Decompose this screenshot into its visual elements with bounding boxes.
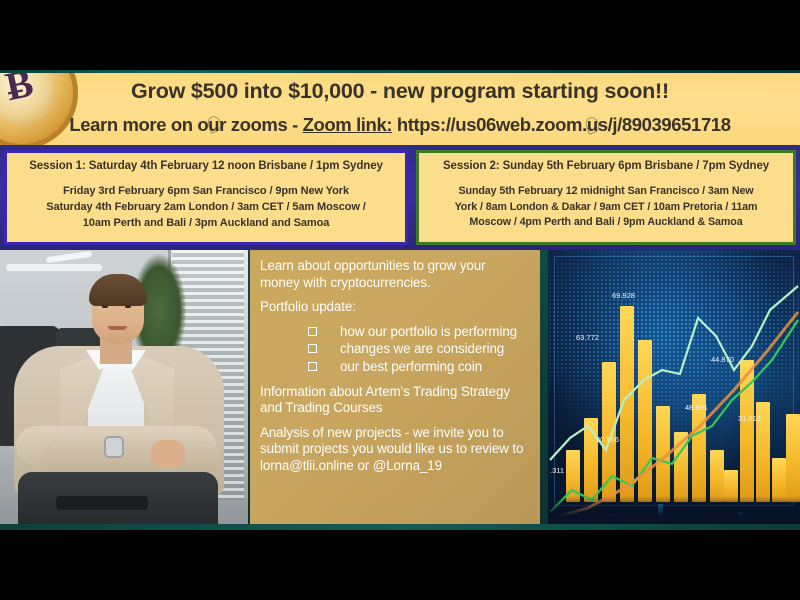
agenda-analysis: Analysis of new projects - we invite you… xyxy=(260,425,528,475)
market-chart-image: 69.928 63.772 48.891 44.870 31.012 20.55… xyxy=(548,250,800,530)
chart-trend-lines xyxy=(548,250,800,530)
chart-data-label: 44.870 xyxy=(711,355,734,364)
chart-data-label: 63.772 xyxy=(576,333,599,342)
chart-data-label-partial: .311 xyxy=(550,466,564,475)
session-1-time-line: Friday 3rd February 6pm San Francisco / … xyxy=(46,184,366,200)
chart-data-label: 48.891 xyxy=(685,403,708,412)
chart-trend-line-orange xyxy=(554,312,798,518)
agenda-panel: Learn about opportunities to grow your m… xyxy=(250,250,540,525)
photo-ceiling-light-1 xyxy=(6,264,102,271)
promo-banner: Ƀ Grow $500 into $10,000 - new program s… xyxy=(0,73,800,145)
banner-subtitle-prefix: Learn more on our zooms - xyxy=(69,114,302,135)
agenda-bullet-item: how our portfolio is performing xyxy=(260,324,528,341)
session-2-time-line: Moscow / 4pm Perth and Bali / 9pm Auckla… xyxy=(455,215,758,231)
banner-subtitle: Learn more on our zooms - Zoom link: htt… xyxy=(0,114,800,136)
person-eye-right xyxy=(125,305,131,308)
agenda-intro: Learn about opportunities to grow your m… xyxy=(260,258,528,291)
agenda-bullet-item: changes we are considering xyxy=(260,341,528,358)
zoom-url[interactable]: https://us06web.zoom.us/j/89039651718 xyxy=(392,114,731,135)
person-hand xyxy=(150,440,186,468)
photo-chair-lumbar xyxy=(56,496,148,510)
checkbox-icon xyxy=(308,362,317,371)
agenda-bullet-text: how our portfolio is performing xyxy=(340,324,517,339)
session-2-time-line: York / 8am London & Dakar / 9am CET / 10… xyxy=(455,200,758,216)
agenda-bullet-item: our best performing coin xyxy=(260,359,528,376)
session-1-time-line: Saturday 4th February 2am London / 3am C… xyxy=(46,200,366,216)
zoom-link-label[interactable]: Zoom link: xyxy=(303,114,393,135)
agenda-bullet-list: how our portfolio is performing changes … xyxy=(260,324,528,376)
session-2-times: Sunday 5th February 12 midnight San Fran… xyxy=(455,184,758,231)
chart-data-label: 31.012 xyxy=(738,414,761,423)
agenda-info: Information about Artem's Trading Strate… xyxy=(260,384,528,417)
sessions-row: Session 1: Saturday 4th February 12 noon… xyxy=(0,145,800,250)
agenda-bullet-text: changes we are considering xyxy=(340,341,504,356)
agenda-bullet-text: our best performing coin xyxy=(340,359,482,374)
poster-root: Ƀ Grow $500 into $10,000 - new program s… xyxy=(0,0,800,600)
session-1-time-line: 10am Perth and Bali / 3pm Auckland and S… xyxy=(46,216,366,232)
content-band: Learn about opportunities to grow your m… xyxy=(0,250,800,530)
person-mouth xyxy=(108,326,127,330)
banner-title: Grow $500 into $10,000 - new program sta… xyxy=(0,79,800,104)
checkbox-icon xyxy=(308,344,317,353)
bottom-letterbox xyxy=(0,530,800,600)
presenter-photo xyxy=(0,250,248,530)
agenda-portfolio-heading: Portfolio update: xyxy=(260,299,528,316)
session-2-time-line: Sunday 5th February 12 midnight San Fran… xyxy=(455,184,758,200)
person-wristwatch xyxy=(104,436,124,458)
session-1-card: Session 1: Saturday 4th February 12 noon… xyxy=(4,150,408,245)
session-2-heading: Session 2: Sunday 5th February 6pm Brisb… xyxy=(443,160,769,172)
session-1-times: Friday 3rd February 6pm San Francisco / … xyxy=(46,184,366,232)
person-arm-lower xyxy=(40,440,220,476)
session-1-heading: Session 1: Saturday 4th February 12 noon… xyxy=(29,160,383,172)
session-2-card: Session 2: Sunday 5th February 6pm Brisb… xyxy=(416,150,796,245)
checkbox-icon xyxy=(308,327,317,336)
top-letterbox xyxy=(0,0,800,70)
person-eye-left xyxy=(102,305,108,308)
chart-data-label: 20.556 xyxy=(596,435,619,444)
chart-data-label: 69.928 xyxy=(612,291,635,300)
